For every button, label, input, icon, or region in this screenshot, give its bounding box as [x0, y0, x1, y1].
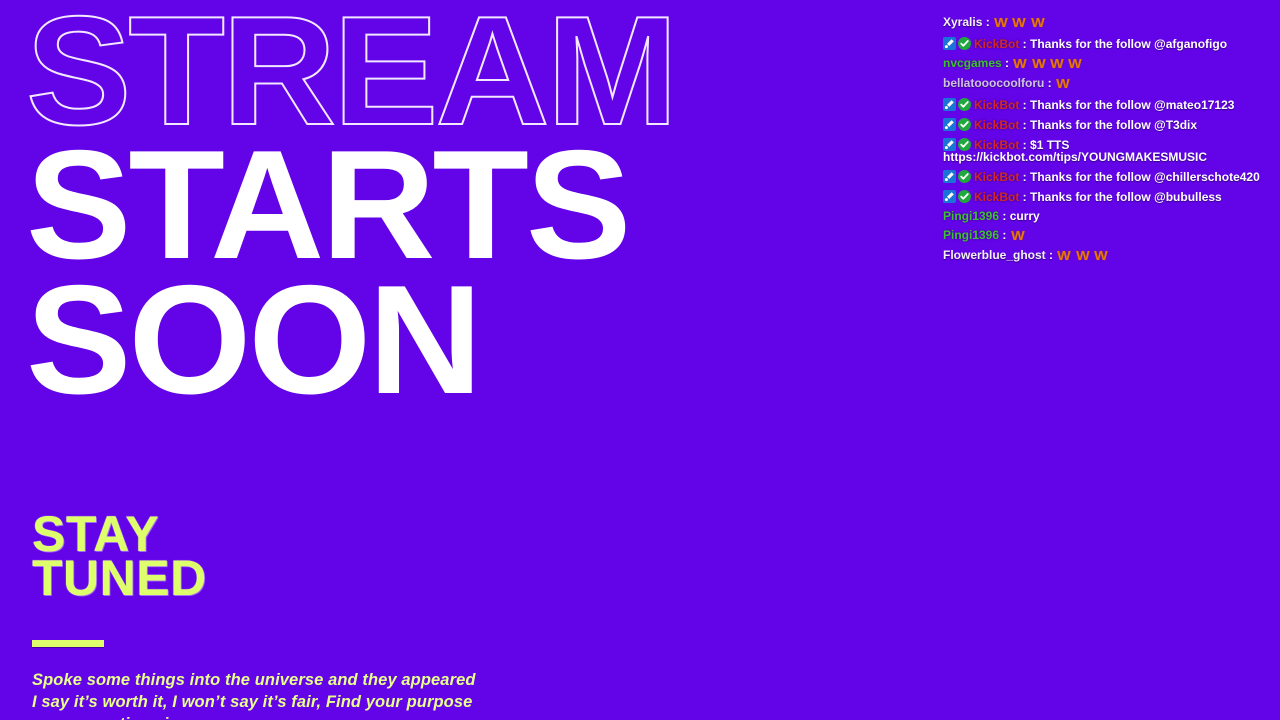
chat-username[interactable]: Pingi1396 — [943, 209, 999, 223]
chat-message: Pingi1396 : curry — [943, 210, 1280, 222]
moderator-badge-icon — [943, 118, 956, 131]
chat-badges — [943, 190, 971, 203]
stream-offline-overlay: STREAM STARTS SOON STAY TUNED Spoke some… — [0, 0, 1280, 720]
chat-message-text: Thanks for the follow @T3dix — [1030, 118, 1197, 132]
chat-emote-w-icon: W — [1014, 58, 1027, 71]
quote-block: Spoke some things into the universe and … — [32, 669, 476, 720]
chat-username[interactable]: Pingi1396 — [943, 228, 999, 242]
chat-badges — [943, 118, 971, 131]
chat-separator: : — [1019, 98, 1030, 112]
chat-separator: : — [999, 209, 1010, 223]
moderator-badge-icon — [943, 98, 956, 111]
moderator-badge-icon — [943, 170, 956, 183]
chat-message: KickBot : Thanks for the follow @chiller… — [943, 170, 1280, 183]
chat-separator: : — [1044, 76, 1055, 90]
chat-badges — [943, 37, 971, 50]
chat-emote-w-icon: W — [1094, 250, 1107, 263]
chat-emote-w-icon: W — [1076, 250, 1089, 263]
verified-badge-icon — [958, 118, 971, 131]
chat-separator: : — [1019, 37, 1030, 51]
chat-message-text: Thanks for the follow @bubulless — [1030, 190, 1222, 204]
accent-divider — [32, 640, 104, 647]
chat-message: Flowerblue_ghost : WWW — [943, 249, 1280, 263]
headline-line-soon: SOON — [26, 277, 1209, 403]
quote-line-2: I say it’s worth it, I won’t say it’s fa… — [32, 691, 476, 713]
chat-overlay[interactable]: Xyralis : WWWKickBot : Thanks for the fo… — [943, 16, 1280, 270]
chat-username[interactable]: nvcgames — [943, 56, 1002, 70]
moderator-badge-icon — [943, 138, 956, 151]
chat-message: nvcgames : WWWW — [943, 57, 1280, 71]
chat-separator: : — [982, 15, 993, 29]
chat-separator: : — [999, 228, 1010, 242]
chat-separator: : — [1046, 248, 1057, 262]
verified-badge-icon — [958, 138, 971, 151]
chat-emote-w-icon: W — [1032, 58, 1045, 71]
chat-message-text: curry — [1010, 209, 1040, 223]
chat-emote-w-icon: W — [1011, 230, 1024, 243]
chat-separator: : — [1002, 56, 1013, 70]
chat-username[interactable]: KickBot — [974, 190, 1019, 204]
chat-username[interactable]: bellatooocoolforu — [943, 76, 1044, 90]
verified-badge-icon — [958, 190, 971, 203]
chat-message: KickBot : Thanks for the follow @afganof… — [943, 37, 1280, 50]
chat-separator: : — [1019, 190, 1030, 204]
chat-username[interactable]: Xyralis — [943, 15, 982, 29]
chat-badges — [943, 98, 971, 111]
chat-badges — [943, 170, 971, 183]
verified-badge-icon — [958, 170, 971, 183]
chat-message: KickBot : Thanks for the follow @bubulle… — [943, 190, 1280, 203]
moderator-badge-icon — [943, 37, 956, 50]
chat-separator: : — [1019, 118, 1030, 132]
chat-username[interactable]: KickBot — [974, 37, 1019, 51]
chat-message: Pingi1396 : W — [943, 229, 1280, 243]
chat-emote-w-icon: W — [1056, 78, 1069, 91]
chat-emote-w-icon: W — [1058, 250, 1071, 263]
chat-emote-w-icon: W — [994, 17, 1007, 30]
chat-message-text: Thanks for the follow @afganofigo — [1030, 37, 1227, 51]
chat-message: Xyralis : WWW — [943, 16, 1280, 30]
chat-username[interactable]: KickBot — [974, 118, 1019, 132]
quote-line-3: or you wasting air... — [32, 713, 476, 720]
quote-line-1: Spoke some things into the universe and … — [32, 669, 476, 691]
chat-message: KickBot : Thanks for the follow @mateo17… — [943, 98, 1280, 111]
stay-tuned-block: STAY TUNED Spoke some things into the un… — [32, 512, 476, 720]
verified-badge-icon — [958, 37, 971, 50]
chat-message: KickBot : $1 TTS https://kickbot.com/tip… — [943, 138, 1280, 163]
chat-username[interactable]: KickBot — [974, 98, 1019, 112]
chat-message: KickBot : Thanks for the follow @T3dix — [943, 118, 1280, 131]
chat-separator: : — [1019, 170, 1030, 184]
chat-username[interactable]: Flowerblue_ghost — [943, 248, 1046, 262]
chat-username[interactable]: KickBot — [974, 170, 1019, 184]
chat-emote-w-icon: W — [1031, 17, 1044, 30]
chat-emote-w-icon: W — [1013, 17, 1026, 30]
chat-message-text: Thanks for the follow @chillerschote420 — [1030, 170, 1260, 184]
chat-message-text: Thanks for the follow @mateo17123 — [1030, 98, 1234, 112]
chat-message: bellatooocoolforu : W — [943, 77, 1280, 91]
moderator-badge-icon — [943, 190, 956, 203]
stay-tuned-word-tuned: TUNED — [32, 556, 476, 600]
verified-badge-icon — [958, 98, 971, 111]
chat-emote-w-icon: W — [1068, 58, 1081, 71]
chat-emote-w-icon: W — [1050, 58, 1063, 71]
